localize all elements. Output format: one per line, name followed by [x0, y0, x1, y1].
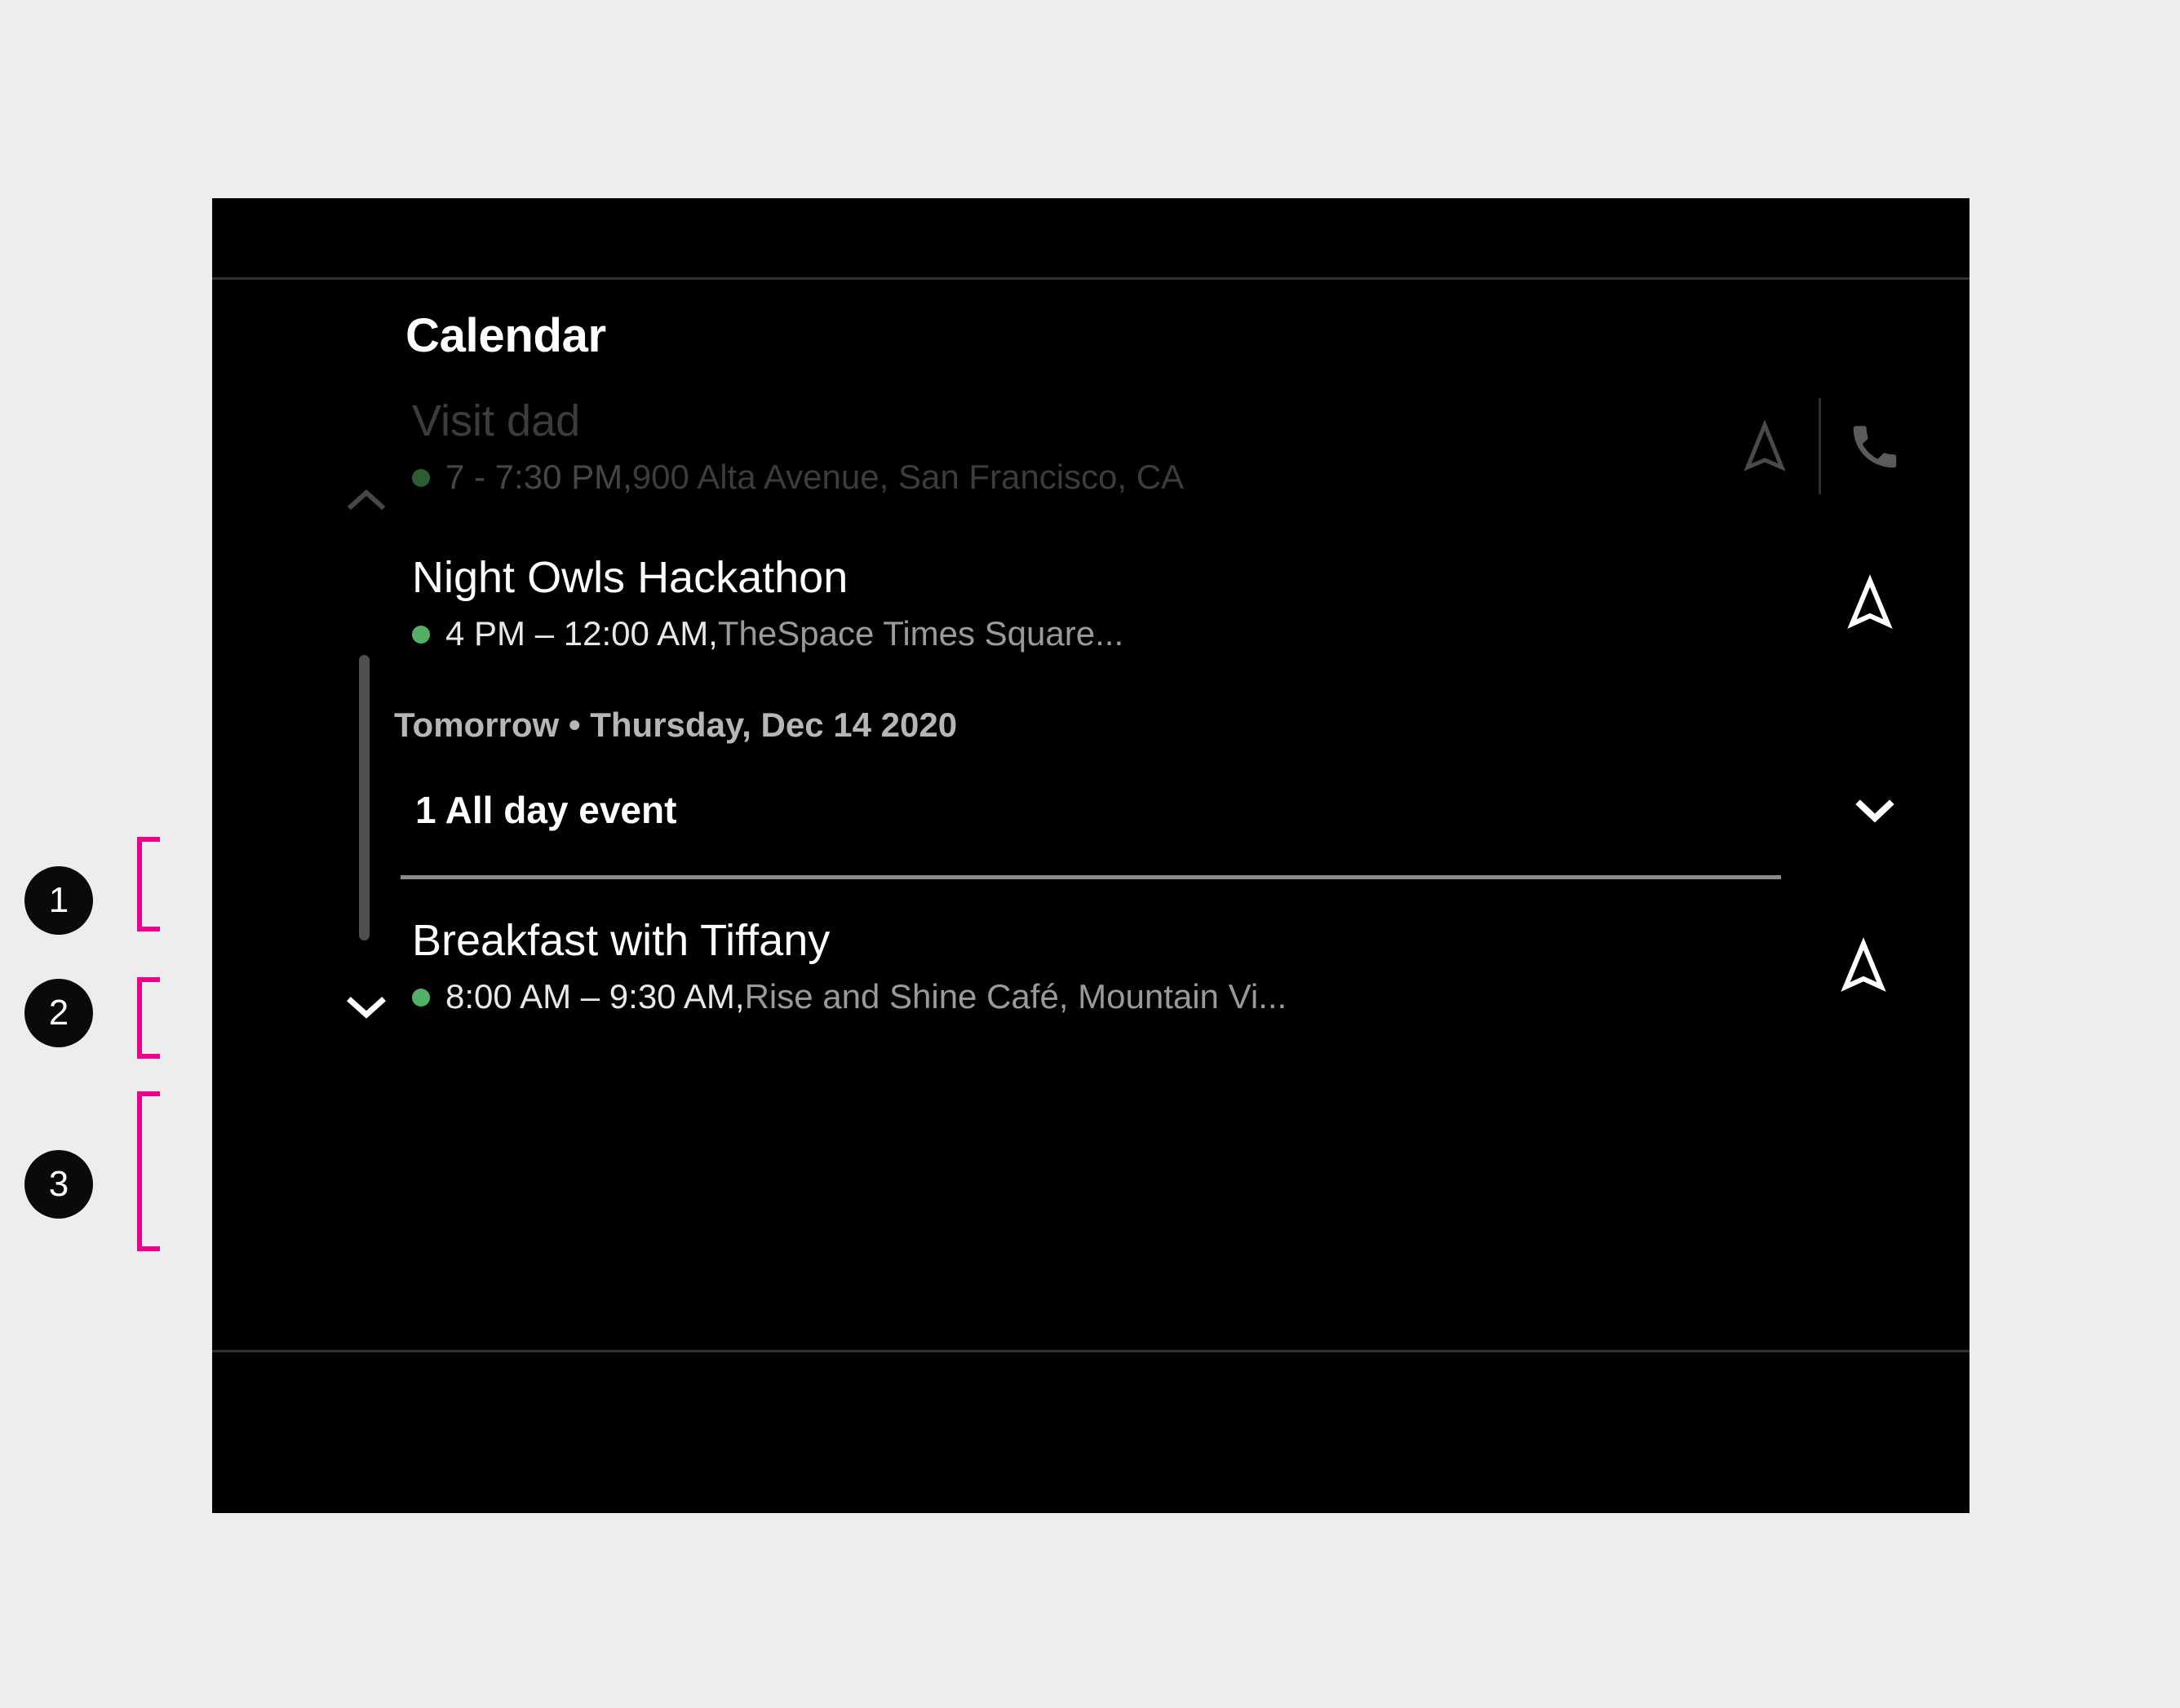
chevron-down-icon[interactable]	[1841, 776, 1909, 844]
annotation-bracket-2	[137, 977, 160, 1059]
event-location: TheSpace Times Square...	[718, 614, 1123, 653]
call-icon[interactable]	[1829, 400, 1921, 492]
event-subtitle: 7 - 7:30 PM, 900 Alta Avenue, San Franci…	[412, 458, 1686, 497]
scrollbar-thumb[interactable]	[359, 655, 370, 940]
calendar-panel: Calendar Visit dad	[212, 280, 1970, 1348]
event-actions	[1818, 920, 1921, 1011]
event-title: Breakfast with Tiffany	[412, 915, 1785, 966]
event-time: 4 PM – 12:00 AM,	[445, 614, 718, 653]
annotation-gutter: 1 2 3	[0, 0, 212, 1708]
navigate-icon[interactable]	[1824, 557, 1916, 648]
screen-divider-bottom	[212, 1350, 1970, 1352]
event-subtitle: 4 PM – 12:00 AM, TheSpace Times Square..…	[412, 614, 1792, 653]
event-time: 7 - 7:30 PM,	[445, 458, 632, 497]
event-color-dot	[412, 626, 430, 644]
event-actions	[1824, 557, 1921, 648]
annotation-badge-2: 2	[24, 979, 93, 1047]
annotation-badge-1: 1	[24, 866, 93, 935]
event-subtitle: 8:00 AM – 9:30 AM, Rise and Shine Café, …	[412, 977, 1785, 1016]
event-title: Visit dad	[412, 396, 1686, 446]
scrollbar[interactable]	[326, 410, 424, 1348]
event-location: 900 Alta Avenue, San Francisco, CA	[632, 458, 1184, 497]
event-time: 8:00 AM – 9:30 AM,	[445, 977, 745, 1016]
action-divider	[1819, 398, 1821, 494]
annotation-bracket-1	[137, 837, 160, 931]
device-screen: Calendar Visit dad	[212, 198, 1970, 1513]
day-header: Tomorrow • Thursday, Dec 14 2020	[394, 706, 1921, 745]
event-color-dot	[412, 469, 430, 487]
event-details: Visit dad 7 - 7:30 PM, 900 Alta Avenue, …	[412, 396, 1686, 497]
event-actions	[1719, 398, 1921, 494]
navigate-icon[interactable]	[1719, 400, 1810, 492]
list-item[interactable]: Night Owls Hackathon 4 PM – 12:00 AM, Th…	[412, 534, 1921, 671]
list-item[interactable]: Breakfast with Tiffany 8:00 AM – 9:30 AM…	[412, 897, 1921, 1034]
event-color-dot	[412, 989, 430, 1007]
list-item[interactable]: Visit dad 7 - 7:30 PM, 900 Alta Avenue, …	[412, 378, 1921, 515]
chevron-up-icon[interactable]	[341, 476, 392, 526]
navigate-icon[interactable]	[1818, 920, 1909, 1011]
all-day-events-toggle[interactable]: 1 All day event	[412, 759, 1921, 861]
all-day-events-label: 1 All day event	[415, 788, 1841, 832]
annotation-bracket-3	[137, 1091, 160, 1251]
page-title: Calendar	[405, 308, 606, 363]
event-title: Night Owls Hackathon	[412, 552, 1792, 603]
event-details: Night Owls Hackathon 4 PM – 12:00 AM, Th…	[412, 552, 1792, 653]
event-list: Visit dad 7 - 7:30 PM, 900 Alta Avenue, …	[412, 378, 1921, 1034]
event-location: Rise and Shine Café, Mountain Vi...	[745, 977, 1287, 1016]
annotation-badge-3: 3	[24, 1150, 93, 1219]
section-divider	[401, 875, 1781, 879]
event-details: Breakfast with Tiffany 8:00 AM – 9:30 AM…	[412, 915, 1785, 1016]
chevron-down-icon[interactable]	[341, 981, 392, 1032]
